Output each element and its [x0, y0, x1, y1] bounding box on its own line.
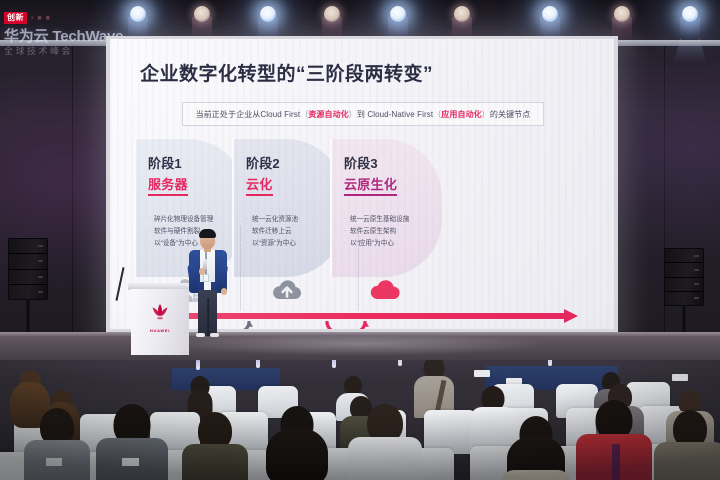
presenter-figure [185, 228, 231, 340]
audience-member [502, 416, 570, 480]
page-title: 企业数字化转型的“三阶段两转变” [140, 59, 433, 86]
audience-seating [0, 360, 720, 480]
bullet-dot-icon: · [148, 226, 150, 237]
transition-2-arc-icon [322, 321, 370, 329]
subtitle-highlight-2: 应用自动化 [441, 110, 482, 119]
subtitle-part-2: 到 Cloud-Native First [357, 110, 433, 119]
stage-3-name: 云原生化 [344, 174, 397, 196]
bullet-text: 软件迁移上云 [252, 226, 292, 238]
cloud-upload-icon [270, 275, 304, 305]
line-array-speaker-icon [8, 238, 48, 346]
audience-member [262, 406, 332, 480]
cloud-icon [368, 275, 402, 305]
stage-card-2: 阶段2 云化 ·统一云化资源池 ·软件迁移上云 ·以“资源”为中心 [232, 139, 344, 277]
bullet-text: 软件云原生架构 [350, 226, 396, 238]
audience-member [654, 410, 720, 480]
water-bottle [398, 360, 402, 366]
stage-2-name: 云化 [246, 174, 273, 196]
podium-wordmark: HUAWEI [150, 328, 171, 333]
badge-dots: • ■ ■ [31, 15, 51, 22]
water-bottle [332, 360, 336, 368]
subtitle-text: 当前正处于企业从Cloud First（资源自动化）到 Cloud-Native… [196, 109, 531, 120]
bullet-dot-icon: · [148, 214, 150, 225]
audience-member [24, 408, 90, 480]
bullet-dot-icon: · [246, 226, 248, 237]
subtitle-part-3: 的关键节点 [490, 110, 531, 119]
subtitle-highlight-1: 资源自动化 [308, 110, 349, 119]
paren-close-2: ） [482, 110, 490, 119]
name-badge [203, 274, 209, 282]
bullet-dot-icon: · [344, 214, 346, 225]
stage-2-label: 阶段2 [246, 153, 338, 172]
list-item: ·以“资源”为中心 [246, 238, 338, 250]
stage-card-3: 阶段3 云原生化 ·统一云原生基础设施 ·软件云原生架构 ·以“应用”为中心 [330, 139, 442, 277]
stage-1-label: 阶段1 [148, 153, 240, 172]
bullet-text: 碎片化物理设备管理 [154, 214, 213, 226]
audience-member [348, 404, 422, 480]
list-item: ·统一云化资源池 [246, 214, 338, 226]
list-item: ·碎片化物理设备管理 [148, 214, 240, 226]
table-placard [672, 374, 688, 381]
bullet-dot-icon: · [344, 226, 346, 237]
huawei-flower-logo [150, 303, 171, 322]
stage-3-label: 阶段3 [344, 153, 436, 172]
audience-member [96, 404, 168, 480]
bullet-dot-icon: · [246, 238, 248, 249]
bullet-text: 以“资源”为中心 [252, 238, 296, 250]
paren-close-1: ） [349, 110, 357, 119]
bullet-dot-icon: · [148, 238, 150, 249]
water-bottle [548, 360, 552, 366]
water-bottle [256, 360, 260, 368]
bullet-text: 统一云化资源池 [252, 214, 298, 226]
table-placard [474, 370, 490, 377]
list-item: ·软件迁移上云 [246, 226, 338, 238]
audience-member [182, 412, 248, 480]
bullet-text: 以“应用”为中心 [350, 238, 394, 250]
conference-photo: 创新 • ■ ■ 华为云 TechWave 全球技术峰会 企业数字化转型的“三阶… [0, 0, 720, 480]
subtitle-callout: 当前正处于企业从Cloud First（资源自动化）到 Cloud-Native… [182, 102, 544, 126]
podium: HUAWEI [131, 283, 189, 355]
stage-2-bullets: ·统一云化资源池 ·软件迁移上云 ·以“资源”为中心 [246, 214, 338, 251]
bullet-dot-icon: · [344, 238, 346, 249]
subtitle-part-1: 当前正处于企业从Cloud First [196, 110, 301, 119]
water-bottle [196, 360, 200, 370]
audience-member [576, 400, 652, 480]
stage-1-name: 服务器 [148, 174, 188, 196]
innovation-badge: 创新 [4, 12, 27, 24]
bullet-dot-icon: · [246, 214, 248, 225]
